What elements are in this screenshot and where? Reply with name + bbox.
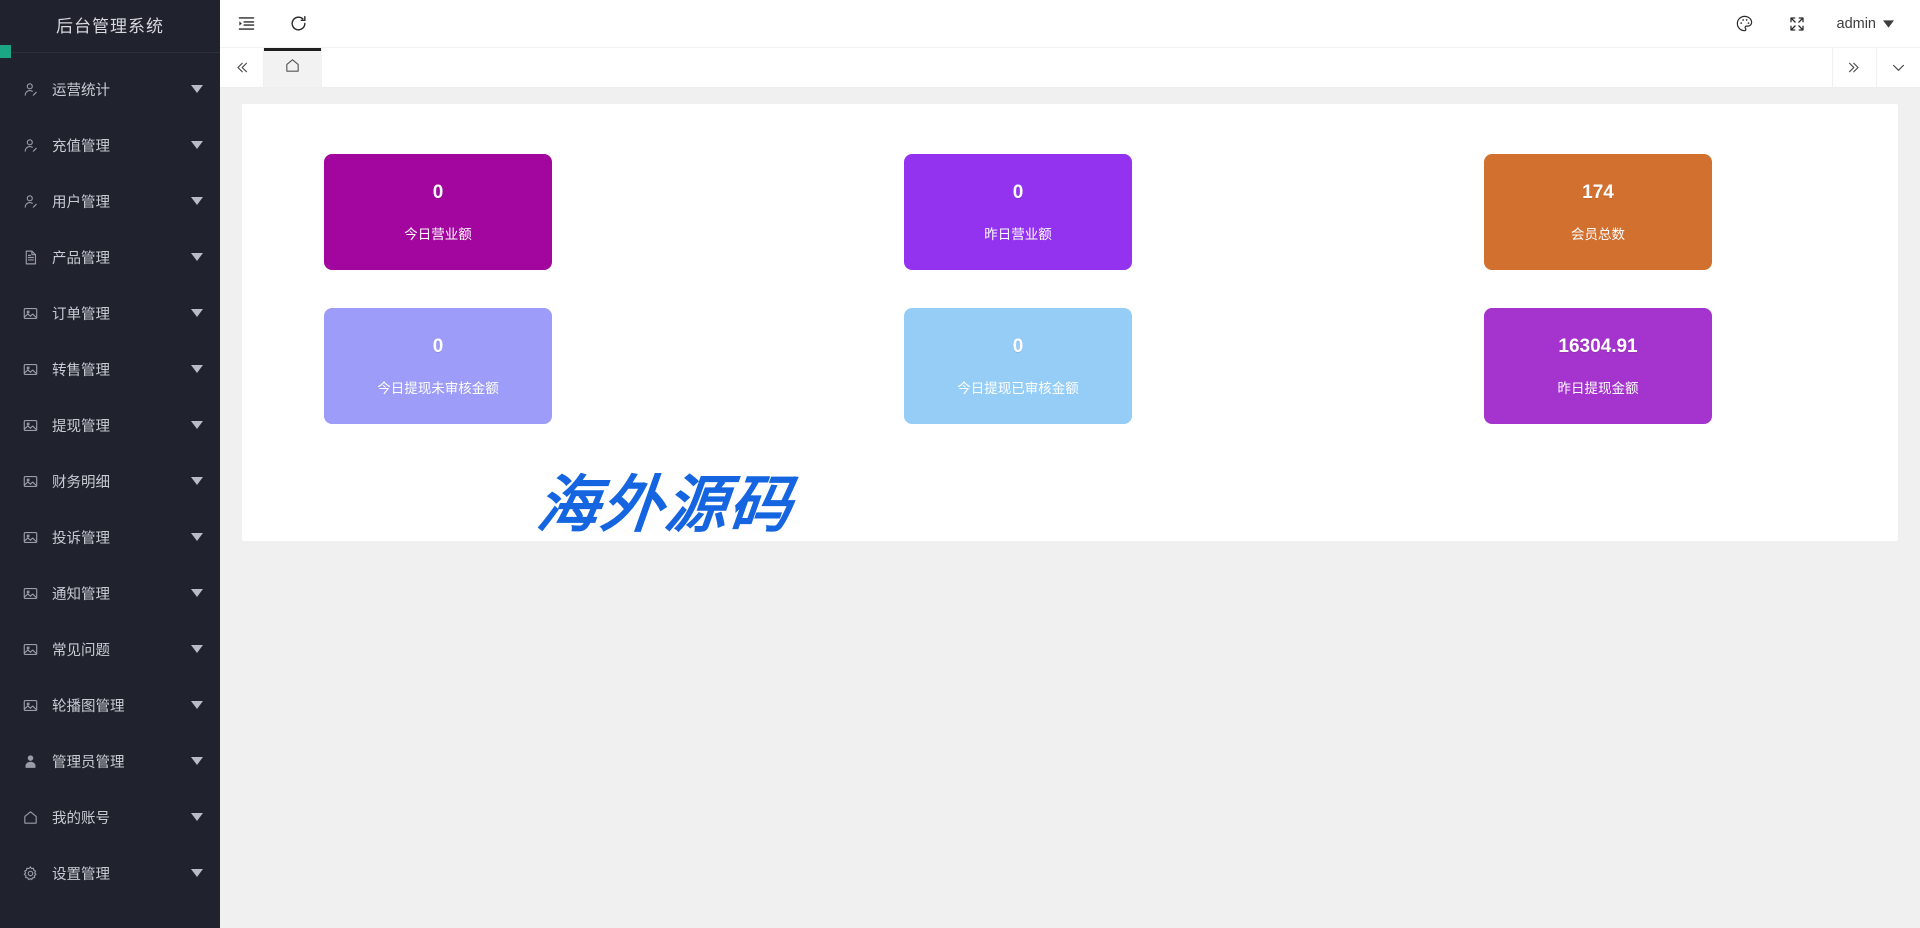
caret-down-icon[interactable] — [190, 194, 204, 208]
stat-card-value: 0 — [433, 337, 444, 356]
sidebar-item-label: 转售管理 — [52, 359, 190, 380]
dashboard-panel: 0今日营业额0昨日营业额174会员总数0今日提现未审核金额0今日提现已审核金额1… — [242, 104, 1898, 541]
user-menu[interactable]: admin — [1823, 0, 1913, 48]
sidebar-item-9[interactable]: 投诉管理 — [0, 509, 220, 565]
sidebar-item-1[interactable]: 运营统计 — [0, 61, 220, 117]
stat-card-value: 174 — [1582, 183, 1614, 202]
refresh-icon[interactable] — [272, 0, 324, 48]
tabbar — [220, 48, 1920, 88]
gear-icon — [20, 863, 40, 883]
sidebar: 后台管理系统 运营统计充值管理用户管理产品管理订单管理转售管理提现管理财务明细投… — [0, 0, 220, 928]
stat-card-grid: 0今日营业额0昨日营业额174会员总数0今日提现未审核金额0今日提现已审核金额1… — [242, 154, 1898, 424]
sidebar-menu: 运营统计充值管理用户管理产品管理订单管理转售管理提现管理财务明细投诉管理通知管理… — [0, 53, 220, 901]
caret-down-icon[interactable] — [190, 82, 204, 96]
sidebar-item-2[interactable]: 充值管理 — [0, 117, 220, 173]
person-icon — [20, 751, 40, 771]
stat-card-value: 16304.91 — [1558, 337, 1637, 356]
sidebar-item-12[interactable]: 轮播图管理 — [0, 677, 220, 733]
user-stats-icon — [20, 191, 40, 211]
sidebar-logo: 后台管理系统 — [0, 0, 220, 48]
caret-down-icon[interactable] — [190, 138, 204, 152]
caret-down-icon[interactable] — [190, 418, 204, 432]
username-label: admin — [1837, 16, 1877, 32]
admin-dashboard-app: 后台管理系统 运营统计充值管理用户管理产品管理订单管理转售管理提现管理财务明细投… — [0, 0, 1920, 928]
stat-card[interactable]: 0今日提现未审核金额 — [324, 308, 552, 424]
stat-card-label: 昨日提现金额 — [1558, 382, 1639, 396]
caret-down-icon[interactable] — [190, 810, 204, 824]
topbar: admin — [220, 0, 1920, 48]
sidebar-item-label: 充值管理 — [52, 135, 190, 156]
sidebar-accent-marker — [0, 45, 11, 58]
image-icon — [20, 639, 40, 659]
sidebar-item-8[interactable]: 财务明细 — [0, 453, 220, 509]
caret-down-icon[interactable] — [190, 866, 204, 880]
sidebar-item-15[interactable]: 设置管理 — [0, 845, 220, 901]
sidebar-title: 后台管理系统 — [56, 12, 164, 37]
sidebar-item-label: 投诉管理 — [52, 527, 190, 548]
caret-down-icon[interactable] — [190, 754, 204, 768]
stat-card[interactable]: 174会员总数 — [1484, 154, 1712, 270]
fullscreen-icon[interactable] — [1771, 0, 1823, 48]
sidebar-item-7[interactable]: 提现管理 — [0, 397, 220, 453]
main-column: admin — [220, 0, 1920, 928]
menu-fold-icon[interactable] — [220, 0, 272, 48]
sidebar-item-3[interactable]: 用户管理 — [0, 173, 220, 229]
sidebar-item-label: 管理员管理 — [52, 751, 190, 772]
image-icon — [20, 471, 40, 491]
user-stats-icon — [20, 79, 40, 99]
double-chevron-left-icon[interactable] — [220, 48, 264, 87]
palette-icon[interactable] — [1719, 0, 1771, 48]
home-icon — [284, 57, 301, 79]
stat-card-value: 0 — [433, 183, 444, 202]
topbar-right-group: admin — [1719, 0, 1913, 48]
sidebar-item-4[interactable]: 产品管理 — [0, 229, 220, 285]
image-icon — [20, 415, 40, 435]
user-stats-icon — [20, 135, 40, 155]
stat-card-label: 今日提现已审核金额 — [957, 382, 1079, 396]
caret-down-icon[interactable] — [190, 530, 204, 544]
stat-card-value: 0 — [1013, 183, 1024, 202]
topbar-left-group — [220, 0, 324, 48]
watermark-text: 海外源码 — [533, 454, 798, 541]
tab-list — [264, 48, 1832, 87]
stat-card[interactable]: 0今日营业额 — [324, 154, 552, 270]
stat-card-label: 今日提现未审核金额 — [377, 382, 499, 396]
sidebar-item-label: 常见问题 — [52, 639, 190, 660]
tab-dropdown-icon[interactable] — [1876, 48, 1920, 87]
caret-down-icon[interactable] — [190, 642, 204, 656]
sidebar-item-label: 产品管理 — [52, 247, 190, 268]
stat-card[interactable]: 0今日提现已审核金额 — [904, 308, 1132, 424]
sidebar-item-label: 通知管理 — [52, 583, 190, 604]
caret-down-icon[interactable] — [190, 698, 204, 712]
sidebar-item-6[interactable]: 转售管理 — [0, 341, 220, 397]
tab-home[interactable] — [264, 48, 322, 87]
caret-down-icon — [1883, 16, 1894, 32]
double-chevron-right-icon[interactable] — [1832, 48, 1876, 87]
sidebar-item-label: 我的账号 — [52, 807, 190, 828]
stat-card[interactable]: 0昨日营业额 — [904, 154, 1132, 270]
sidebar-item-14[interactable]: 我的账号 — [0, 789, 220, 845]
stat-card-label: 会员总数 — [1571, 228, 1625, 242]
image-icon — [20, 303, 40, 323]
stat-card-label: 今日营业额 — [404, 228, 472, 242]
image-icon — [20, 527, 40, 547]
stat-card[interactable]: 16304.91昨日提现金额 — [1484, 308, 1712, 424]
image-icon — [20, 359, 40, 379]
document-icon — [20, 247, 40, 267]
caret-down-icon[interactable] — [190, 474, 204, 488]
caret-down-icon[interactable] — [190, 586, 204, 600]
sidebar-item-label: 财务明细 — [52, 471, 190, 492]
sidebar-item-label: 用户管理 — [52, 191, 190, 212]
image-icon — [20, 695, 40, 715]
sidebar-item-label: 订单管理 — [52, 303, 190, 324]
sidebar-item-label: 提现管理 — [52, 415, 190, 436]
sidebar-item-label: 设置管理 — [52, 863, 190, 884]
stat-card-value: 0 — [1013, 337, 1024, 356]
sidebar-item-13[interactable]: 管理员管理 — [0, 733, 220, 789]
sidebar-item-5[interactable]: 订单管理 — [0, 285, 220, 341]
caret-down-icon[interactable] — [190, 362, 204, 376]
image-icon — [20, 583, 40, 603]
home-icon — [20, 807, 40, 827]
sidebar-item-11[interactable]: 常见问题 — [0, 621, 220, 677]
sidebar-item-10[interactable]: 通知管理 — [0, 565, 220, 621]
content-area: 0今日营业额0昨日营业额174会员总数0今日提现未审核金额0今日提现已审核金额1… — [220, 88, 1920, 928]
caret-down-icon[interactable] — [190, 306, 204, 320]
caret-down-icon[interactable] — [190, 250, 204, 264]
sidebar-item-label: 运营统计 — [52, 79, 190, 100]
sidebar-item-label: 轮播图管理 — [52, 695, 190, 716]
stat-card-label: 昨日营业额 — [984, 228, 1052, 242]
